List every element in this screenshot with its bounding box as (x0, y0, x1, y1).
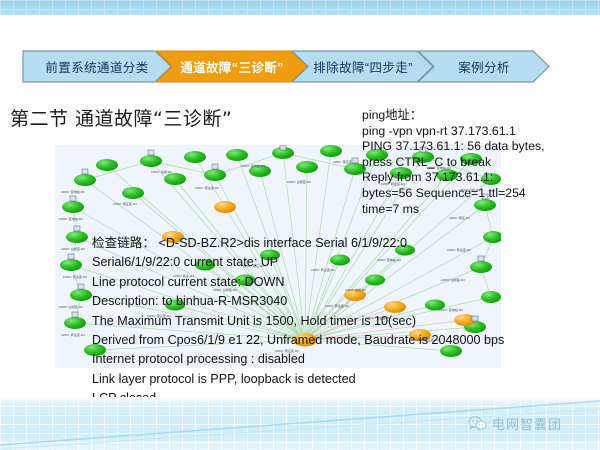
nav-step-4[interactable]: 案例分析 (418, 50, 550, 83)
svg-text:2206Y 白桥变-R2: 2206Y 白桥变-R2 (287, 179, 311, 184)
cli-output-text: 检查链路： <D-SD-BZ.R2>dis interface Serial 6… (92, 234, 600, 409)
svg-text:2206Y 变电站-R2: 2206Y 变电站-R2 (241, 163, 265, 168)
slide-canvas: 前置系统通道分类 通道故障“三诊断” 排除故障“四步走” (0, 0, 600, 450)
svg-text:2206Y 变电站-R2: 2206Y 变电站-R2 (59, 216, 83, 221)
svg-text:2206Y 白桥变-R2: 2206Y 白桥变-R2 (59, 304, 83, 309)
ping-output-text: ping地址： ping -vpn vpn-rt 37.173.61.1 PIN… (362, 108, 600, 217)
svg-text:2206Y 白桥-R2: 2206Y 白桥-R2 (151, 169, 172, 174)
nav-step-2-label: 通道故障“三诊断” (174, 57, 290, 76)
cli-line: Internet protocol processing : disabled (92, 350, 600, 369)
ping-line: Reply from 37.173.61.1: (362, 170, 600, 186)
svg-text:2206Y 商业变-R2: 2206Y 商业变-R2 (195, 185, 219, 190)
top-decor-band (0, 0, 600, 15)
process-chevron-nav: 前置系统通道分类 通道故障“三诊断” 排除故障“四步走” (22, 50, 550, 83)
cli-line: The Maximum Transmit Unit is 1500, Hold … (92, 312, 600, 331)
nav-step-4-label: 案例分析 (452, 57, 516, 76)
cli-line: Line protocol current state: DOWN (92, 273, 600, 292)
svg-text:2206Y 南庄变-R2: 2206Y 南庄变-R2 (113, 201, 137, 206)
watermark-label: 电网智囊团 (492, 414, 562, 433)
svg-text:2206Y 白桥变-R2: 2206Y 白桥变-R2 (61, 246, 85, 251)
svg-text:2206Y 商业变-R2: 2206Y 商业变-R2 (63, 274, 87, 279)
wechat-icon (468, 416, 487, 431)
page-title: 第二节 通道故障“三诊断” (10, 104, 232, 131)
cli-line: Link layer protocol is PPP, loopback is … (92, 370, 600, 389)
ping-line: press CTRL_C to break (362, 155, 600, 171)
cli-line: Description: to binhua-R-MSR3040 (92, 292, 600, 311)
ping-line: ping地址： (362, 108, 600, 124)
nav-step-3[interactable]: 排除故障“四步走” (292, 50, 434, 83)
svg-text:2206Y 变电站-R2: 2206Y 变电站-R2 (61, 189, 85, 194)
ping-line: ping -vpn vpn-rt 37.173.61.1 (362, 124, 600, 140)
nav-step-2[interactable]: 通道故障“三诊断” (156, 50, 308, 83)
footer-watermark: 电网智囊团 (468, 414, 562, 433)
cli-line: 检查链路： <D-SD-BZ.R2>dis interface Serial 6… (92, 234, 600, 253)
nav-step-3-label: 排除故障“四步走” (307, 57, 418, 76)
ping-line: PING 37.173.61.1: 56 data bytes, (362, 139, 600, 155)
ping-line: bytes=56 Sequence=1 ttl=254 (362, 186, 600, 202)
cli-line: Derived from Cpos6/1/9 e1 22, Unframed m… (92, 331, 600, 350)
ping-line: time=7 ms (362, 202, 600, 218)
cli-line: Serial6/1/9/22:0 current state: UP (92, 253, 600, 272)
nav-step-1-label: 前置系统通道分类 (39, 57, 154, 76)
nav-step-1[interactable]: 前置系统通道分类 (22, 50, 172, 83)
svg-text:2206Y 商业变-R2: 2206Y 商业变-R2 (61, 332, 85, 337)
